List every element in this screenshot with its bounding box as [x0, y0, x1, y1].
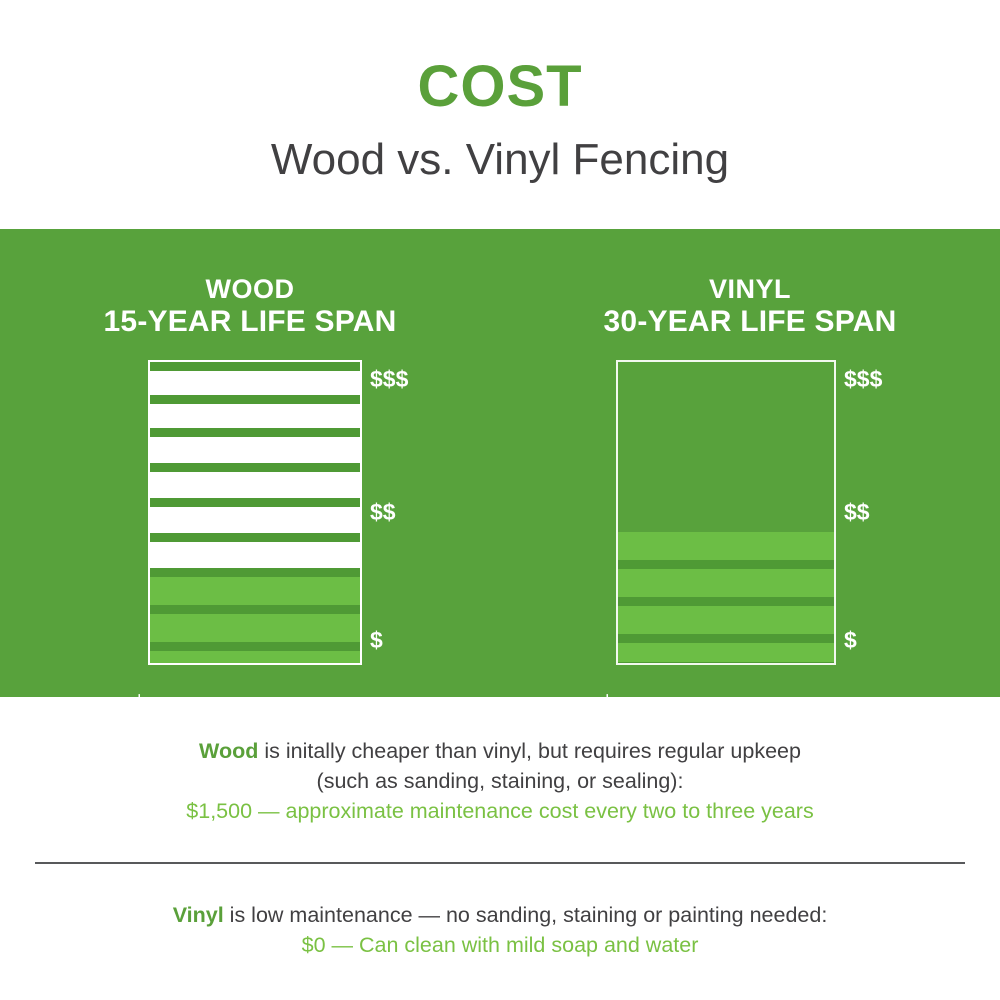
- note-vinyl-line1-rest: is low maintenance — no sanding, stainin…: [224, 903, 828, 927]
- vinyl-band: [618, 362, 834, 532]
- wood-band: [150, 428, 360, 437]
- chart-heading-vinyl: VINYL 30-YEAR LIFE SPAN: [500, 275, 1000, 339]
- header: COST Wood vs. Vinyl Fencing: [0, 0, 1000, 229]
- note-vinyl-line2: $0 — Can clean with mild soap and water: [0, 930, 1000, 960]
- chart-material-wood: WOOD: [0, 275, 500, 304]
- wood-band: [150, 533, 360, 542]
- note-wood-line2: (such as sanding, staining, or sealing):: [0, 766, 1000, 796]
- page-subtitle: Wood vs. Vinyl Fencing: [271, 138, 729, 182]
- chart-material-vinyl: VINYL: [500, 275, 1000, 304]
- plot-area-vinyl: [616, 360, 836, 665]
- vinyl-band: [618, 560, 834, 569]
- tick-label-vinyl-dollar1: $: [844, 627, 857, 654]
- wood-band: [150, 605, 360, 614]
- vinyl-band: [618, 643, 834, 662]
- wood-band: [150, 642, 360, 651]
- tick-label-wood-dollar3: $$$: [370, 366, 408, 393]
- note-wood-line3: $1,500 — approximate maintenance cost ev…: [0, 796, 1000, 826]
- tick-label-wood-dollar2: $$: [370, 499, 396, 526]
- page-title: COST: [417, 58, 582, 116]
- vinyl-band: [618, 662, 834, 665]
- note-wood: Wood is initally cheaper than vinyl, but…: [0, 736, 1000, 826]
- wood-band: [150, 472, 360, 498]
- tick-label-wood-dollar1: $: [370, 627, 383, 654]
- wood-band: [150, 651, 360, 665]
- plot-area-wood: [148, 360, 362, 665]
- note-vinyl-lead: Vinyl: [173, 903, 224, 927]
- wood-band: [150, 614, 360, 642]
- chart-block-vinyl: VINYL 30-YEAR LIFE SPAN TOTAL COST $$$ $…: [500, 229, 1000, 697]
- wood-band: [150, 498, 360, 507]
- wood-band: [150, 568, 360, 577]
- vinyl-band: [618, 532, 834, 560]
- wood-band: [150, 395, 360, 404]
- wood-band: [150, 577, 360, 605]
- wood-band: [150, 507, 360, 533]
- vinyl-band: [618, 634, 834, 643]
- chart-block-wood: WOOD 15-YEAR LIFE SPAN TOTAL COST $$$ $$…: [0, 229, 500, 697]
- wood-band: [150, 437, 360, 463]
- chart-lifespan-wood: 15-YEAR LIFE SPAN: [0, 306, 500, 338]
- wood-band: [150, 404, 360, 428]
- wood-band: [150, 542, 360, 568]
- note-wood-line1: Wood is initally cheaper than vinyl, but…: [0, 736, 1000, 766]
- chart-panel: WOOD 15-YEAR LIFE SPAN TOTAL COST $$$ $$…: [0, 229, 1000, 697]
- note-vinyl-line1: Vinyl is low maintenance — no sanding, s…: [0, 900, 1000, 930]
- note-wood-line1-rest: is initally cheaper than vinyl, but requ…: [258, 739, 801, 763]
- section-divider: [35, 862, 965, 864]
- wood-band: [150, 362, 360, 371]
- wood-band: [150, 371, 360, 395]
- tick-label-vinyl-dollar3: $$$: [844, 366, 882, 393]
- wood-band: [150, 463, 360, 472]
- chart-lifespan-vinyl: 30-YEAR LIFE SPAN: [500, 306, 1000, 338]
- infographic-page: COST Wood vs. Vinyl Fencing WOOD 15-YEAR…: [0, 0, 1000, 1000]
- vinyl-band: [618, 569, 834, 597]
- note-wood-lead: Wood: [199, 739, 258, 763]
- tick-label-vinyl-dollar2: $$: [844, 499, 870, 526]
- vinyl-band: [618, 606, 834, 634]
- vinyl-band: [618, 597, 834, 606]
- note-vinyl: Vinyl is low maintenance — no sanding, s…: [0, 900, 1000, 960]
- chart-heading-wood: WOOD 15-YEAR LIFE SPAN: [0, 275, 500, 339]
